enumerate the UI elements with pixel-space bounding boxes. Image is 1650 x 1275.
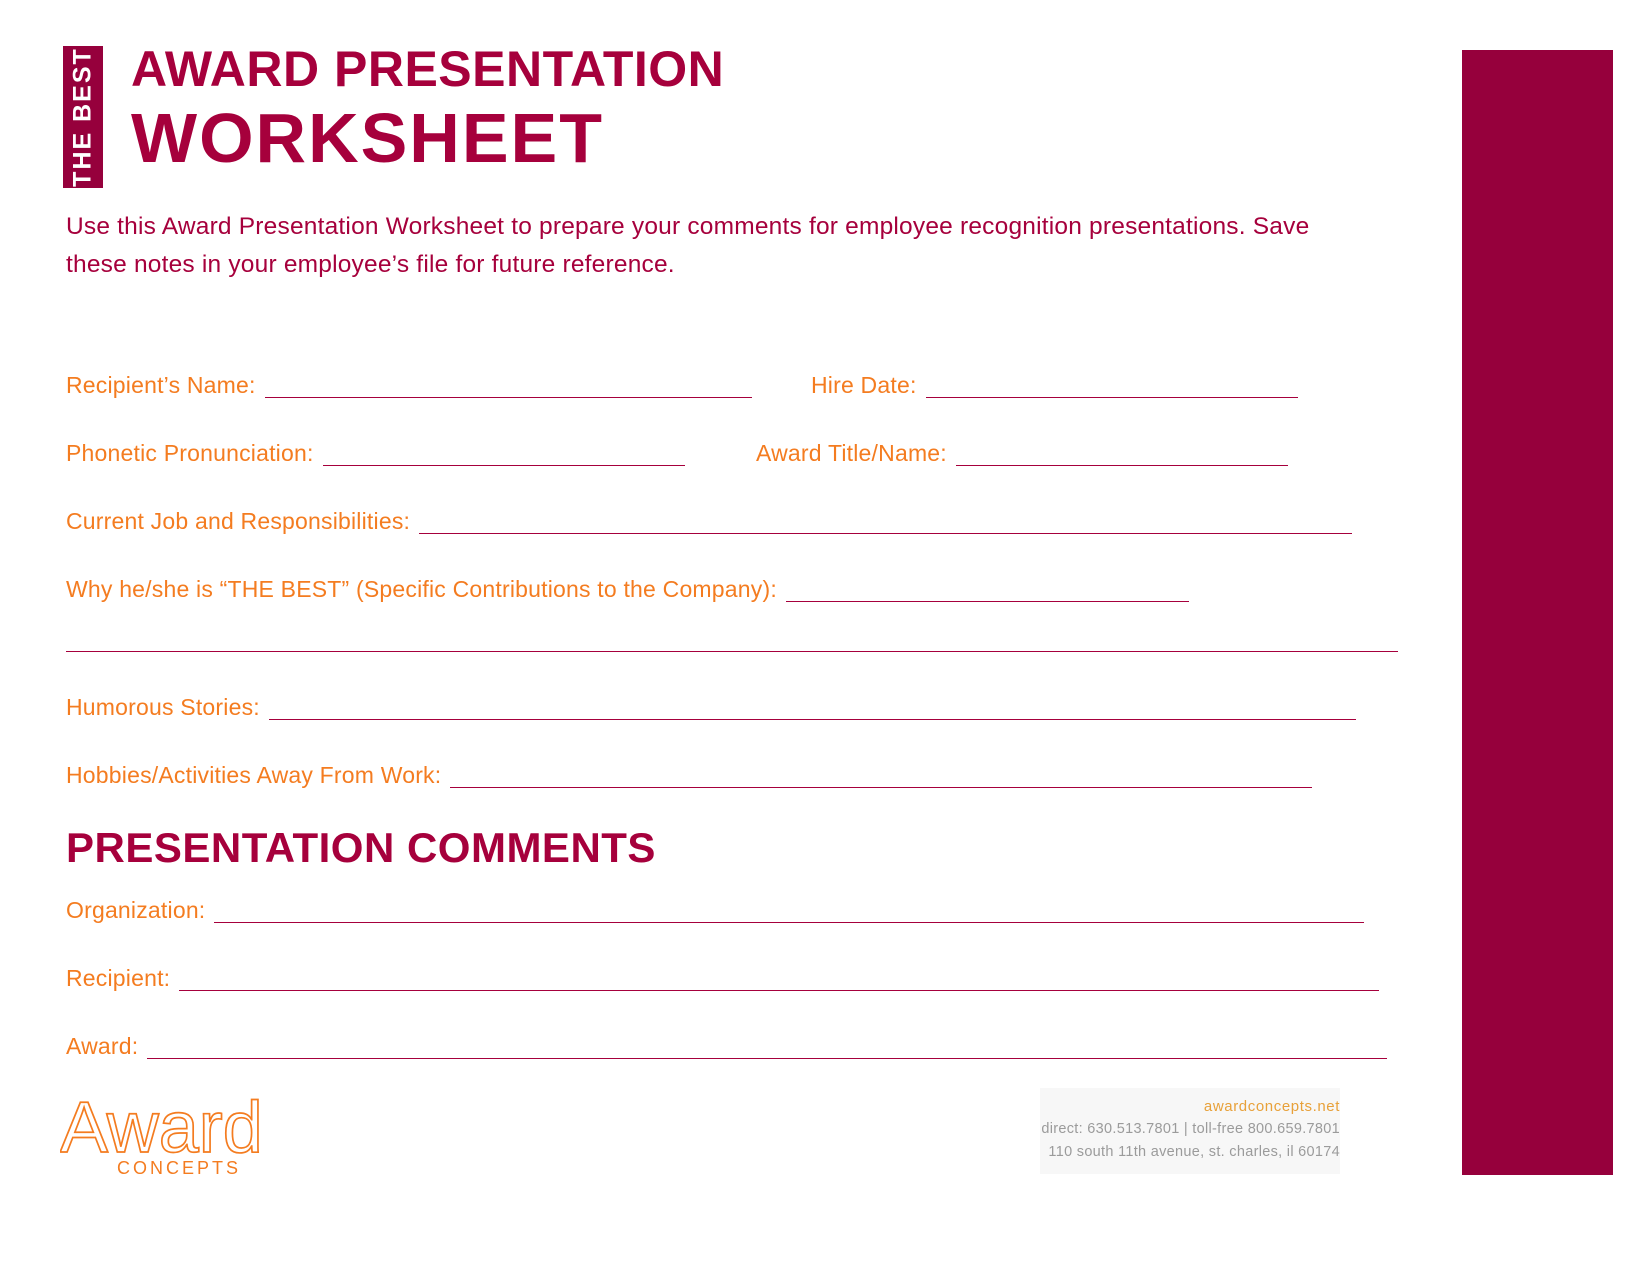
field-recipient[interactable]: Recipient: — [66, 965, 1379, 991]
field-organization[interactable]: Organization: — [66, 897, 1364, 923]
field-label-current-job-responsibilities: Current Job and Responsibilities: — [66, 508, 419, 534]
form-row: Phonetic Pronunciation: Award Title/Name… — [66, 398, 1398, 466]
the-best-badge: THE BEST — [63, 46, 103, 188]
award-concepts-logo-mark: Award CONCEPTS — [60, 1090, 310, 1180]
worksheet-form: Recipient’s Name: Hire Date: Phonetic Pr… — [66, 330, 1398, 788]
right-accent-bar — [1462, 50, 1613, 1175]
worksheet-page: THE BEST AWARD PRESENTATION WORKSHEET Us… — [0, 0, 1650, 1275]
page-title-line-1: AWARD PRESENTATION — [131, 40, 724, 98]
form-row: Hobbies/Activities Away From Work: — [66, 720, 1398, 788]
page-title: AWARD PRESENTATION WORKSHEET — [131, 40, 724, 176]
form-row: Organization: — [66, 855, 1398, 923]
field-rule-current-job-responsibilities[interactable] — [419, 511, 1352, 534]
form-row: Humorous Stories: — [66, 652, 1398, 720]
page-header: THE BEST AWARD PRESENTATION WORKSHEET — [63, 40, 1403, 190]
the-best-badge-label: THE BEST — [69, 47, 98, 187]
field-why-the-best[interactable]: Why he/she is “THE BEST” (Specific Contr… — [66, 576, 1189, 602]
field-rule-award[interactable] — [147, 1036, 1387, 1059]
footer-contact-block: awardconcepts.net direct: 630.513.7801 |… — [1040, 1088, 1340, 1174]
footer-address-line: 110 south 11th avenue, st. charles, il 6… — [1040, 1141, 1340, 1164]
field-label-organization: Organization: — [66, 897, 214, 923]
award-concepts-logo: Award CONCEPTS — [60, 1090, 310, 1180]
field-phonetic-pronunciation[interactable]: Phonetic Pronunciation: — [66, 440, 685, 466]
field-rule-award-title-name[interactable] — [956, 443, 1288, 466]
field-label-recipient: Recipient: — [66, 965, 179, 991]
field-label-hire-date: Hire Date: — [811, 372, 926, 398]
form-row: Recipient: — [66, 923, 1398, 991]
continuation-row — [66, 602, 1398, 652]
field-rule-organization[interactable] — [214, 900, 1364, 923]
field-label-phonetic-pronunciation: Phonetic Pronunciation: — [66, 440, 323, 466]
field-label-award: Award: — [66, 1033, 147, 1059]
field-recipients-name[interactable]: Recipient’s Name: — [66, 372, 752, 398]
intro-paragraph: Use this Award Presentation Worksheet to… — [66, 208, 1326, 284]
field-current-job-responsibilities[interactable]: Current Job and Responsibilities: — [66, 508, 1352, 534]
form-row: Recipient’s Name: Hire Date: — [66, 330, 1398, 398]
field-humorous-stories[interactable]: Humorous Stories: — [66, 694, 1356, 720]
field-hire-date[interactable]: Hire Date: — [811, 372, 1298, 398]
footer-phone-line: direct: 630.513.7801 | toll-free 800.659… — [1040, 1118, 1340, 1141]
footer-website[interactable]: awardconcepts.net — [1040, 1096, 1340, 1118]
field-rule-why-the-best[interactable] — [786, 579, 1189, 602]
field-award[interactable]: Award: — [66, 1033, 1387, 1059]
page-title-line-2: WORKSHEET — [131, 100, 724, 176]
field-rule-phonetic-pronunciation[interactable] — [323, 443, 685, 466]
field-label-hobbies-activities: Hobbies/Activities Away From Work: — [66, 762, 450, 788]
field-rule-humorous-stories[interactable] — [269, 697, 1356, 720]
field-label-award-title-name: Award Title/Name: — [756, 440, 956, 466]
field-rule-recipient[interactable] — [179, 968, 1379, 991]
presentation-comments-form: Organization: Recipient: Award: — [66, 855, 1398, 1059]
logo-wordmark-text: Award — [60, 1090, 263, 1168]
field-rule-hire-date[interactable] — [926, 375, 1298, 398]
logo-subtext-concepts: CONCEPTS — [117, 1158, 241, 1178]
field-rule-recipients-name[interactable] — [265, 375, 752, 398]
field-award-title-name[interactable]: Award Title/Name: — [756, 440, 1288, 466]
field-label-why-the-best: Why he/she is “THE BEST” (Specific Contr… — [66, 576, 786, 602]
form-row: Why he/she is “THE BEST” (Specific Contr… — [66, 534, 1398, 602]
form-row: Current Job and Responsibilities: — [66, 466, 1398, 534]
field-hobbies-activities[interactable]: Hobbies/Activities Away From Work: — [66, 762, 1312, 788]
field-label-recipients-name: Recipient’s Name: — [66, 372, 265, 398]
field-label-humorous-stories: Humorous Stories: — [66, 694, 269, 720]
field-rule-hobbies-activities[interactable] — [450, 765, 1312, 788]
form-row: Award: — [66, 991, 1398, 1059]
